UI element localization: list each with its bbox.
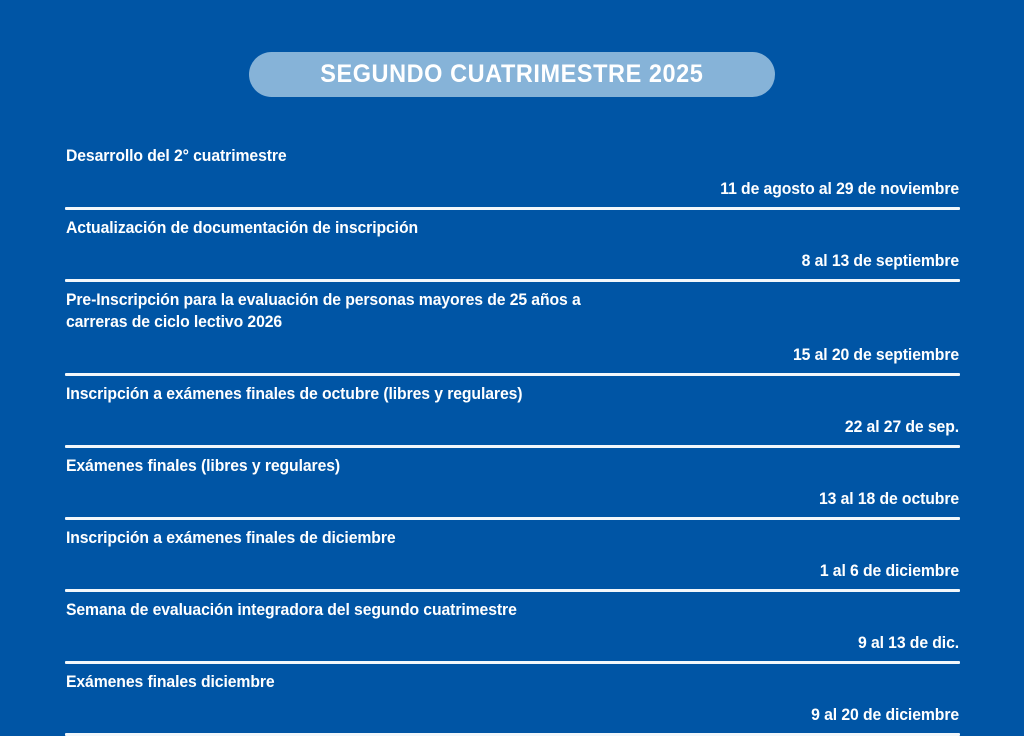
schedule-row-label: Inscripción a exámenes finales de diciem… [65, 527, 920, 549]
schedule-row-date: 1 al 6 de diciembre [105, 560, 960, 582]
schedule-row: Exámenes finales (libres y regulares) 13… [65, 455, 960, 510]
schedule-row: Inscripción a exámenes finales de octubr… [65, 383, 960, 438]
schedule-row-date: 9 al 20 de diciembre [105, 704, 960, 726]
row-divider [65, 279, 960, 282]
schedule-row: Exámenes finales diciembre 9 al 20 de di… [65, 671, 960, 726]
row-divider [65, 589, 960, 592]
schedule-row-date: 15 al 20 de septiembre [105, 344, 960, 366]
schedule-row: Desarrollo del 2° cuatrimestre 11 de ago… [65, 145, 960, 200]
schedule-row-label: Exámenes finales (libres y regulares) [65, 455, 920, 477]
schedule-row: Actualización de documentación de inscri… [65, 217, 960, 272]
page-title: SEGUNDO CUATRIMESTRE 2025 [320, 62, 703, 87]
schedule-row-label: Pre-Inscripción para la evaluación de pe… [65, 289, 920, 333]
schedule-row: Pre-Inscripción para la evaluación de pe… [65, 289, 960, 366]
schedule-list: Desarrollo del 2° cuatrimestre 11 de ago… [65, 138, 960, 736]
calendar-poster: SEGUNDO CUATRIMESTRE 2025 Desarrollo del… [0, 0, 1024, 683]
schedule-row-label: Desarrollo del 2° cuatrimestre [65, 145, 920, 167]
row-divider [65, 661, 960, 664]
schedule-row-label: Semana de evaluación integradora del seg… [65, 599, 920, 621]
schedule-row-date: 22 al 27 de sep. [105, 416, 960, 438]
schedule-row: Inscripción a exámenes finales de diciem… [65, 527, 960, 582]
schedule-row-label: Actualización de documentación de inscri… [65, 217, 920, 239]
schedule-row: Semana de evaluación integradora del seg… [65, 599, 960, 654]
row-divider [65, 373, 960, 376]
schedule-row-date: 8 al 13 de septiembre [105, 250, 960, 272]
schedule-row-label: Inscripción a exámenes finales de octubr… [65, 383, 920, 405]
title-pill: SEGUNDO CUATRIMESTRE 2025 [249, 52, 775, 97]
row-divider [65, 517, 960, 520]
schedule-row-date: 9 al 13 de dic. [105, 632, 960, 654]
title-banner: SEGUNDO CUATRIMESTRE 2025 [0, 52, 1024, 97]
schedule-row-date: 13 al 18 de octubre [105, 488, 960, 510]
row-divider [65, 207, 960, 210]
schedule-row-date: 11 de agosto al 29 de noviembre [105, 178, 960, 200]
row-divider [65, 445, 960, 448]
schedule-row-label: Exámenes finales diciembre [65, 671, 920, 693]
